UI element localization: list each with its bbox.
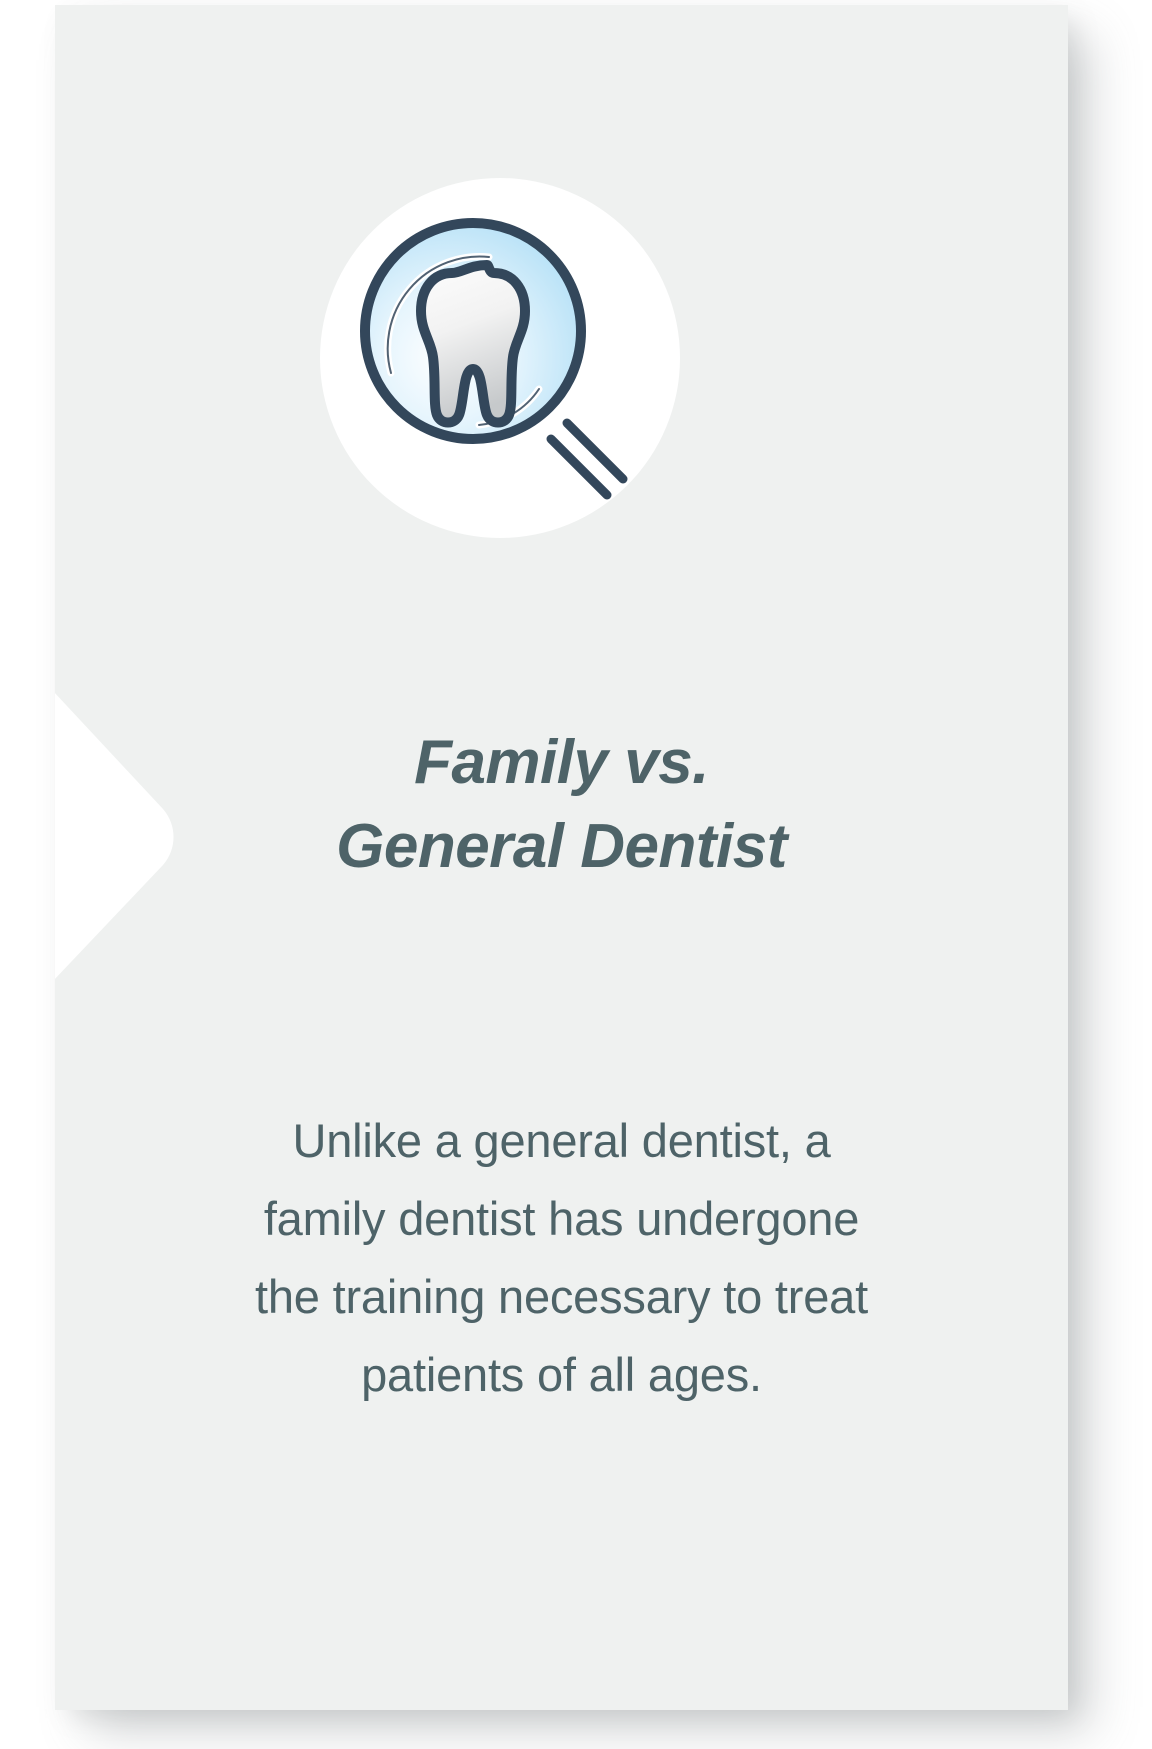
magnifier-tooth-icon <box>355 213 645 503</box>
body-line-4: patients of all ages. <box>101 1336 1022 1414</box>
body-line-2: family dentist has undergone <box>101 1180 1022 1258</box>
body-line-1: Unlike a general dentist, a <box>101 1102 1022 1180</box>
title-line-1: Family vs. <box>55 721 1068 805</box>
body-paragraph: Unlike a general dentist, a family denti… <box>101 1102 1022 1414</box>
info-card: Family vs. General Dentist Unlike a gene… <box>55 5 1068 1710</box>
body-line-3: the training necessary to treat <box>101 1258 1022 1336</box>
slide-canvas: Family vs. General Dentist Unlike a gene… <box>0 0 1152 1749</box>
page-title: Family vs. General Dentist <box>55 721 1068 889</box>
magnifier-handle <box>551 423 623 495</box>
title-line-2: General Dentist <box>55 805 1068 889</box>
